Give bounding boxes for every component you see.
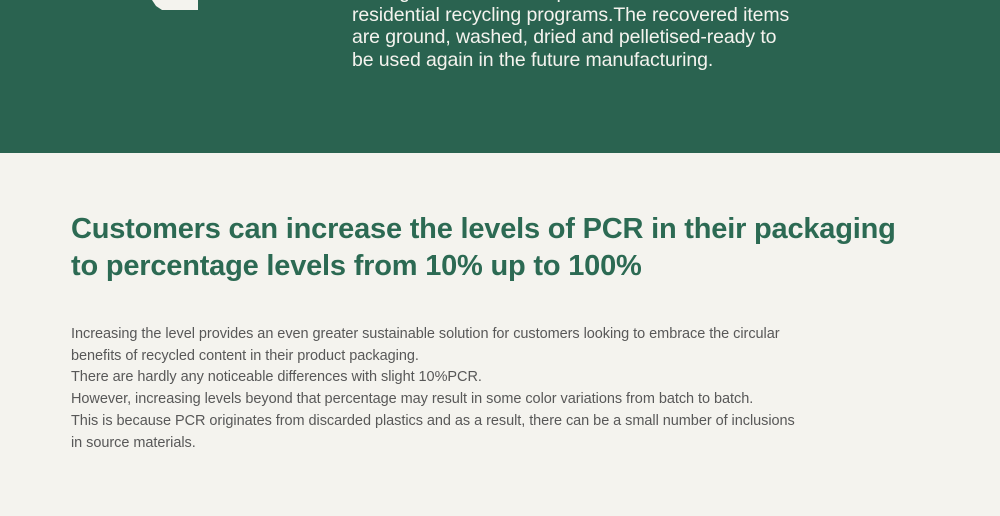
content-section: Customers can increase the levels of PCR… [0, 153, 1000, 516]
headline-line: to percentage levels from 10% up to 100% [71, 248, 951, 285]
banner-line: are ground, washed, dried and pelletised… [352, 26, 872, 49]
body-line: in source materials. [71, 433, 961, 455]
infographic-page: sorting of these discard plastics in com… [0, 0, 1000, 516]
body-line: There are hardly any noticeable differen… [71, 367, 961, 389]
section-headline: Customers can increase the levels of PCR… [71, 211, 951, 285]
banner-line: residential recycling programs.The recov… [352, 4, 872, 27]
body-line: This is because PCR originates from disc… [71, 411, 961, 433]
banner-paragraph: sorting of these discard plastics in com… [352, 0, 872, 71]
body-line: However, increasing levels beyond that p… [71, 389, 961, 411]
recycling-symbol-icon [118, 0, 256, 34]
body-line: benefits of recycled content in their pr… [71, 346, 961, 368]
hero-banner: sorting of these discard plastics in com… [0, 0, 1000, 153]
body-line: Increasing the level provides an even gr… [71, 324, 961, 346]
headline-line: Customers can increase the levels of PCR… [71, 211, 951, 248]
section-body-paragraph: Increasing the level provides an even gr… [71, 324, 961, 454]
banner-line: be used again in the future manufacturin… [352, 49, 872, 72]
